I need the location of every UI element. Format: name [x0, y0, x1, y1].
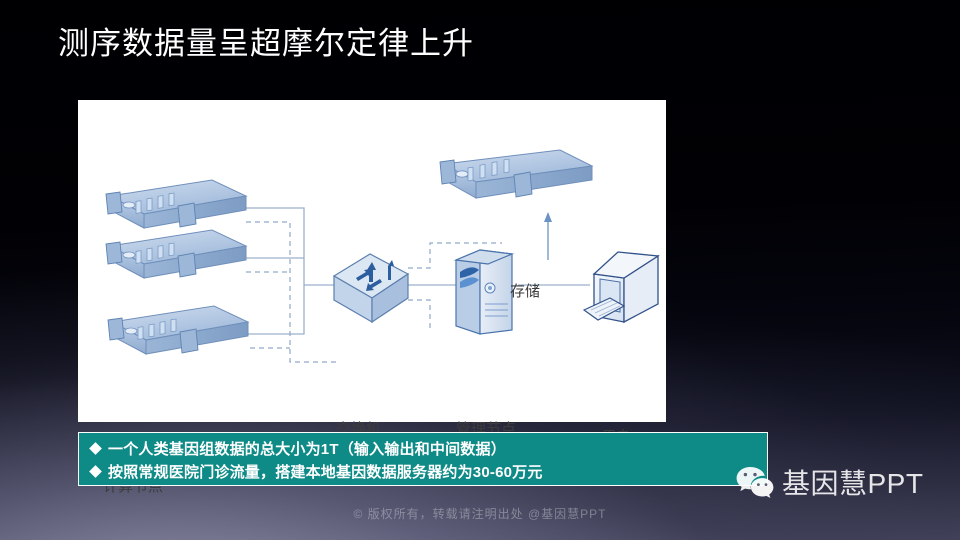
slide-canvas: 测序数据量呈超摩尔定律上升: [0, 0, 960, 540]
callout-bullet-1-text: 一个人类基因组数据的总大小为1T（输入输出和中间数据）: [108, 438, 506, 459]
compute-node-2-icon: [106, 230, 246, 278]
storage-server-icon: [440, 150, 592, 198]
diamond-bullet-icon: [89, 465, 102, 478]
watermark: 基因慧PPT: [735, 462, 923, 502]
callout-bullet-2-text: 按照常规医院门诊流量，搭建本地基因数据服务器约为30-60万元: [108, 461, 543, 482]
page-title: 测序数据量呈超摩尔定律上升: [58, 18, 474, 63]
compute-node-1-icon: [106, 180, 246, 228]
label-storage: 存储: [510, 280, 540, 301]
brand-name: 基因慧PPT: [782, 462, 923, 502]
compute-node-3-icon: [108, 306, 248, 354]
callout-bullet-2: 按照常规医院门诊流量，搭建本地基因数据服务器约为30-60万元: [89, 460, 767, 483]
management-node-icon: [456, 244, 512, 336]
callout-bullet-1: 一个人类基因组数据的总大小为1T（输入输出和中间数据）: [89, 437, 767, 460]
diamond-bullet-icon: [89, 442, 102, 455]
network-architecture-diagram: [78, 100, 666, 422]
user-workstation-icon: [584, 252, 658, 322]
diagram-panel: 存储 交换机 管理节点 用户 计算节点: [78, 100, 666, 422]
footer-copyright: © 版权所有，转载请注明出处 @基因慧PPT: [0, 505, 960, 522]
wechat-icon: [735, 465, 775, 499]
callout-box: 一个人类基因组数据的总大小为1T（输入输出和中间数据） 按照常规医院门诊流量，搭…: [78, 432, 768, 486]
network-switch-icon: [334, 254, 408, 322]
